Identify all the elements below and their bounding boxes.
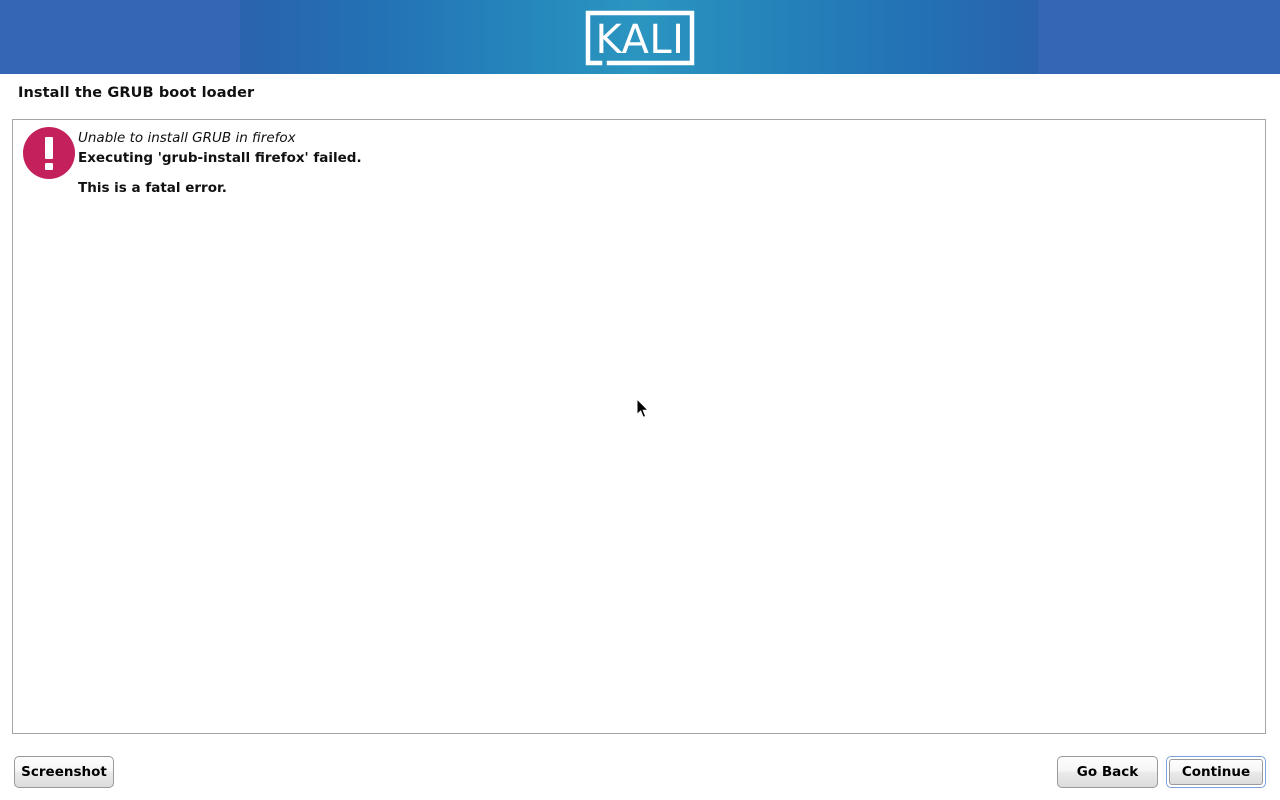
continue-button-label: Continue bbox=[1169, 759, 1263, 785]
error-spacer bbox=[78, 168, 1178, 178]
installer-screen: KALI Install the GRUB boot loader Unable… bbox=[0, 0, 1280, 800]
error-summary: Unable to install GRUB in firefox bbox=[78, 128, 1178, 148]
page-title: Install the GRUB boot loader bbox=[18, 85, 254, 101]
screenshot-button[interactable]: Screenshot bbox=[14, 756, 114, 788]
error-detail: Executing 'grub-install firefox' failed. bbox=[78, 148, 1178, 168]
error-exclamation-icon bbox=[23, 127, 75, 179]
continue-button[interactable]: Continue bbox=[1166, 756, 1266, 788]
exclamation-bar bbox=[45, 137, 53, 159]
kali-linux-logo: KALI bbox=[583, 8, 697, 68]
content-panel: Unable to install GRUB in firefox Execut… bbox=[12, 119, 1266, 734]
error-fatal-notice: This is a fatal error. bbox=[78, 178, 1178, 198]
error-message-block: Unable to install GRUB in firefox Execut… bbox=[78, 128, 1178, 198]
go-back-button[interactable]: Go Back bbox=[1057, 756, 1158, 788]
kali-header-banner: KALI bbox=[0, 0, 1280, 74]
exclamation-dot bbox=[45, 163, 53, 170]
kali-logo-text: KALI bbox=[596, 17, 685, 63]
